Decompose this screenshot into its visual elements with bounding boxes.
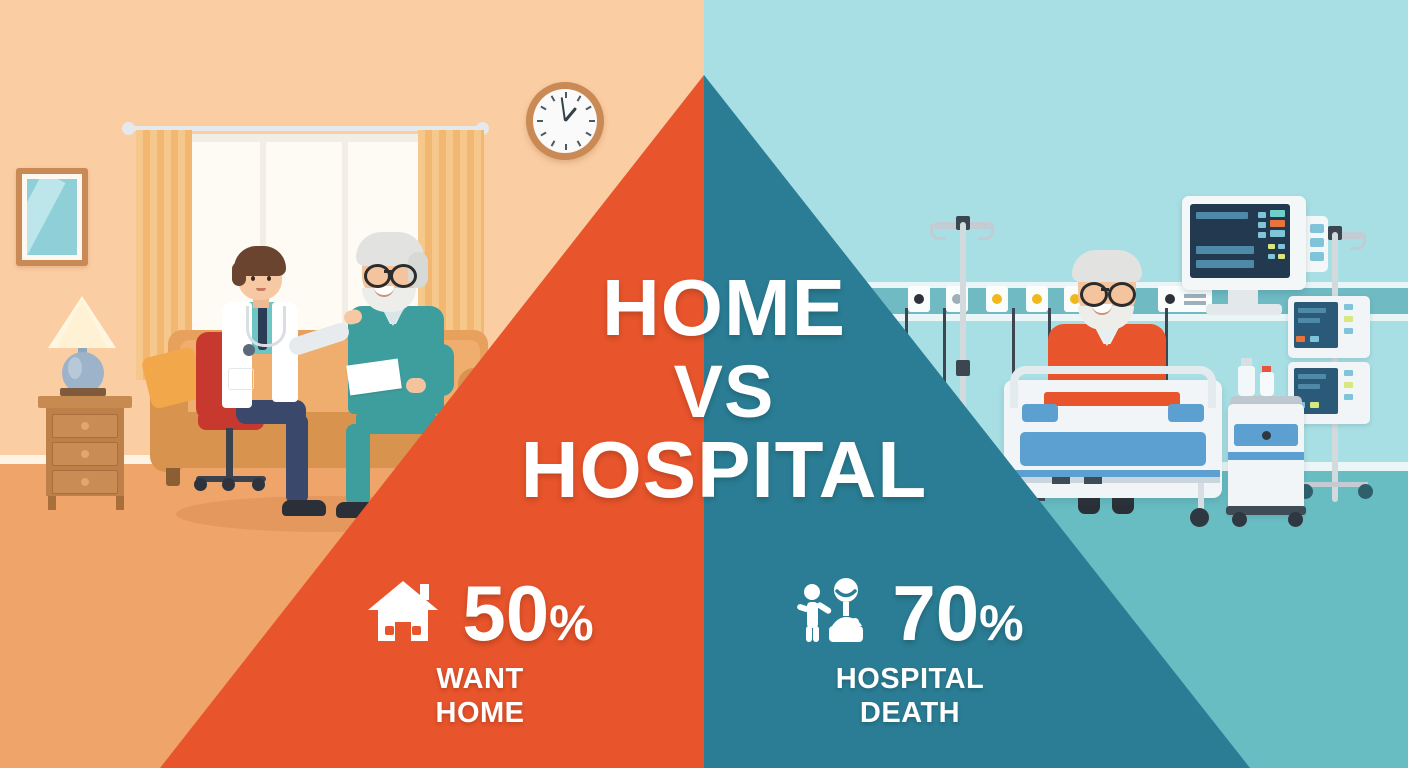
- medical-cart-wheel: [1288, 512, 1303, 527]
- stat-hospital: 70% HOSPITAL DEATH: [730, 570, 1090, 730]
- monitor-side-panel: [1306, 216, 1328, 272]
- picture-art: [27, 179, 77, 255]
- clock-minute-hand: [561, 97, 566, 121]
- medical-cart-wheel: [1232, 512, 1247, 527]
- stat-hospital-label: HOSPITAL DEATH: [730, 662, 1090, 730]
- cpr-resuscitation-icon: [796, 578, 870, 649]
- clock-face: [533, 89, 597, 153]
- stat-home: 50% WANT HOME: [300, 570, 660, 730]
- stat-home-value: 50%: [462, 574, 593, 652]
- stat-hospital-value: 70%: [892, 574, 1023, 652]
- picture-mat: [22, 174, 82, 260]
- house-icon: [366, 578, 440, 649]
- iv-hook-icon: [930, 224, 946, 240]
- page-title-line-2: VS: [0, 355, 1408, 429]
- page-title-line-1: HOME: [0, 268, 1408, 348]
- bed-wheel: [1190, 508, 1209, 527]
- curtain-rod-cap-left: [122, 122, 135, 135]
- monitor-screen: [1190, 204, 1290, 278]
- stat-home-label: WANT HOME: [300, 662, 660, 730]
- wall-picture-frame: [16, 168, 88, 266]
- wall-clock: [526, 82, 604, 160]
- infographic-poster: HOME VS HOSPITAL 50% WANT HOME: [0, 0, 1408, 768]
- page-title-line-3: HOSPITAL: [0, 430, 1408, 510]
